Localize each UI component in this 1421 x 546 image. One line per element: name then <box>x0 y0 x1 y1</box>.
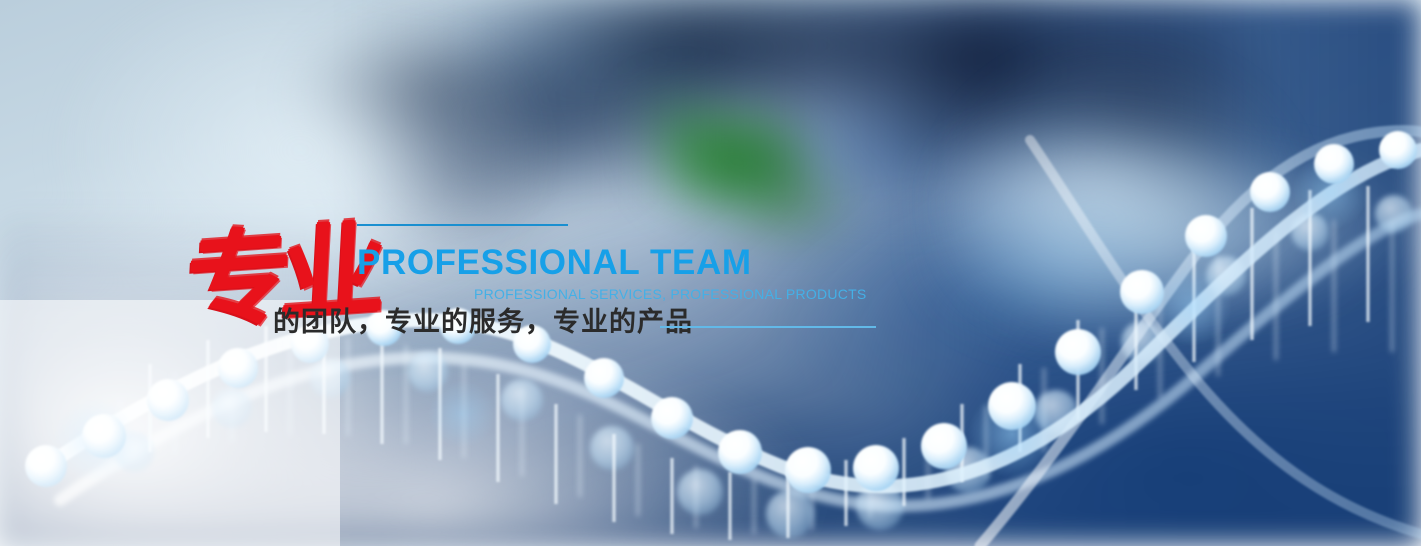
accent-rule-top <box>357 224 568 226</box>
page-title-chinese: 的团队，专业的服务，专业的产品 <box>273 306 693 340</box>
page-title: PROFESSIONAL TEAM <box>357 243 752 283</box>
page-subtitle: PROFESSIONAL SERVICES, PROFESSIONAL PROD… <box>474 285 866 303</box>
hero-banner: 专业 PROFESSIONAL TEAM PROFESSIONAL SERVIC… <box>0 0 1421 546</box>
accent-rule-right <box>660 326 876 328</box>
